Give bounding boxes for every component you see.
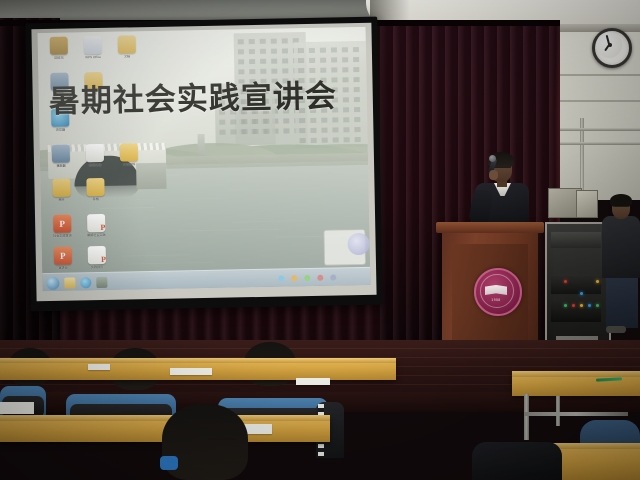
side-desk-edge	[512, 371, 640, 377]
emblem-year: 1958	[480, 298, 512, 302]
electrical-junction-box-2	[576, 190, 598, 218]
rack-unit	[551, 274, 601, 294]
clock-center-pin	[608, 43, 612, 47]
projector-glare	[38, 27, 371, 291]
floor-plank-line	[0, 348, 640, 349]
audience-desk-front-edge	[0, 415, 330, 421]
desk-leg	[524, 394, 529, 440]
rack-led	[596, 304, 599, 307]
rack-led	[596, 280, 599, 283]
microphone-head-icon	[489, 155, 496, 162]
rack-led	[580, 304, 583, 307]
assistant-torso	[602, 216, 640, 278]
audience-glasses-icon	[208, 438, 236, 444]
conduit-pipe-horizontal	[546, 142, 640, 145]
lecture-hall-photo: 回收站WPS Office文档计算机下载浏览器播放器新建文档工作资料照片存档P社…	[0, 0, 640, 480]
blue-item	[160, 456, 178, 470]
audience-desk-back-edge	[0, 358, 396, 363]
rack-led	[572, 304, 575, 307]
desk-paper	[88, 364, 110, 370]
assistant-legs	[606, 274, 638, 328]
rack-led	[580, 292, 583, 295]
lectern-top	[436, 222, 544, 233]
speaker-hand	[489, 170, 498, 180]
rack-led	[588, 304, 591, 307]
assistant-glasses-icon	[613, 206, 629, 210]
desk-leg	[556, 396, 560, 426]
rack-led	[564, 280, 567, 283]
desk-paper	[170, 368, 212, 375]
projection-screen-surface[interactable]: 回收站WPS Office文档计算机下载浏览器播放器新建文档工作资料照片存档P社…	[38, 27, 371, 291]
rack-unit	[551, 300, 601, 322]
desk-cross-brace	[524, 412, 628, 416]
desk-paper	[0, 402, 34, 414]
assistant-shoe	[606, 326, 626, 333]
desk-paper	[296, 378, 330, 385]
conduit-pipe-horizontal	[546, 128, 640, 131]
rack-unit	[551, 232, 601, 248]
rack-led	[564, 304, 567, 307]
audience-person-dark	[472, 442, 562, 480]
